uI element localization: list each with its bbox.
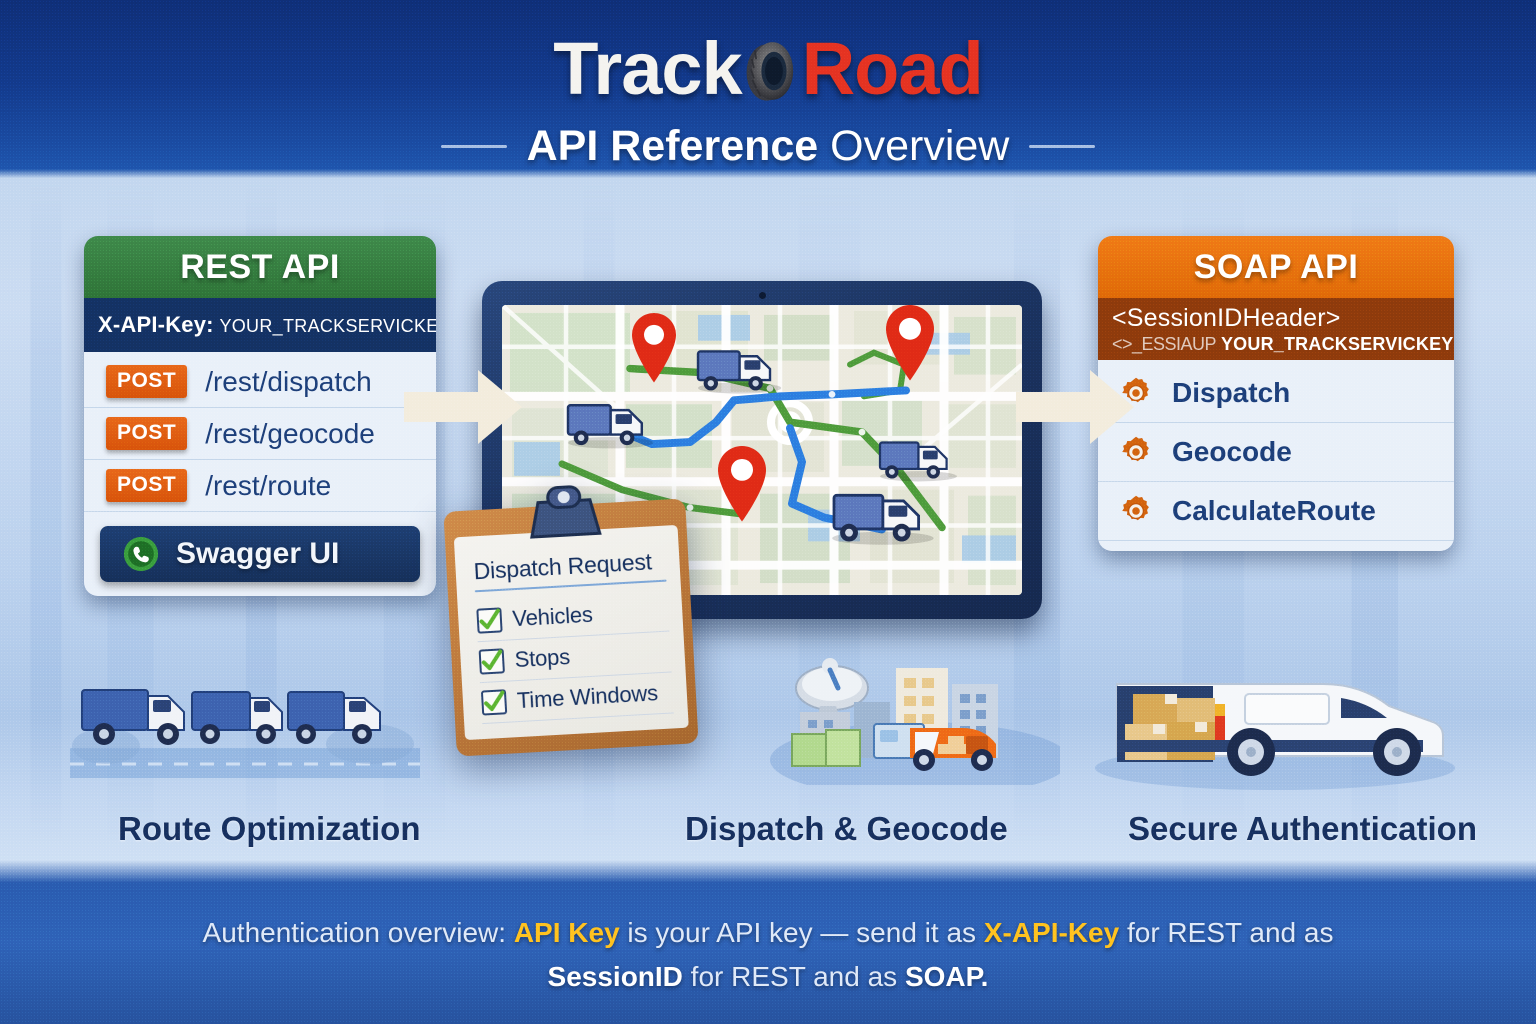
footer-highlight-soap: SOAP. [905, 961, 989, 992]
rest-api-title: REST API [84, 236, 436, 298]
caption-dispatch-geocode: Dispatch & Geocode [685, 810, 1008, 848]
clipboard-title: Dispatch Request [473, 548, 666, 586]
footer-text-b: is your API key — send it as [620, 917, 984, 948]
clipboard-paper: Dispatch Request Vehicles Stops [454, 525, 689, 740]
footer-line-2: SessionID for REST and as SOAP. [0, 955, 1536, 998]
endpoint-row[interactable]: POST /rest/route [84, 460, 436, 512]
arrow-right-icon [404, 366, 522, 448]
tire-icon [734, 34, 808, 108]
soap-api-card[interactable]: SOAP API <SessionIDHeader> <>_ESSIAUP YO… [1098, 236, 1454, 551]
infographic-canvas: Track Road [0, 0, 1536, 1024]
subtitle-light: Overview [830, 122, 1009, 170]
endpoint-row[interactable]: POST /rest/dispatch [84, 356, 436, 408]
soap-session-header: <SessionIDHeader> [1112, 304, 1440, 333]
soap-header-prefix: <>_ESSIAUP [1112, 334, 1216, 354]
footer-highlight-sessionid: SessionID [548, 961, 683, 992]
swagger-ui-label: Swagger UI [176, 537, 339, 571]
soap-operation-row[interactable]: CalculateRoute [1098, 482, 1454, 541]
soap-operation-label: Dispatch [1172, 377, 1290, 409]
tablet-camera [759, 292, 766, 299]
checklist-label: Time Windows [516, 680, 658, 714]
checkbox-checked-icon [478, 648, 505, 675]
method-badge: POST [106, 417, 187, 450]
secure-authentication-van [1095, 636, 1455, 791]
footer-text-a: Authentication overview: [203, 917, 514, 948]
checkbox-checked-icon [480, 689, 507, 716]
rest-auth-bar: X-API-Key: YOUR_TRACKSERVICKEY [84, 298, 436, 352]
method-badge: POST [106, 365, 187, 398]
soap-operation-row[interactable]: Geocode [1098, 423, 1454, 482]
rest-auth-value: YOUR_TRACKSERVICKEY [219, 316, 436, 336]
footer-text-d: for REST and as [683, 961, 905, 992]
rule-left [441, 145, 507, 148]
soap-operation-row[interactable]: Dispatch [1098, 364, 1454, 423]
soap-operation-list: Dispatch Geocode CalculateRoute [1098, 360, 1454, 551]
caption-secure-authentication: Secure Authentication [1128, 810, 1477, 848]
route-optimization-trucks [70, 648, 420, 778]
soap-auth-bar: <SessionIDHeader> <>_ESSIAUP YOUR_TRACKS… [1098, 298, 1454, 360]
subtitle-bold: API Reference [527, 122, 819, 170]
truck [192, 692, 282, 744]
footer-note: Authentication overview: API Key is your… [0, 911, 1536, 998]
brand-logo: Track Road [0, 26, 1536, 111]
page-subtitle: API Reference Overview [0, 122, 1536, 171]
endpoint-row[interactable]: POST /rest/geocode [84, 408, 436, 460]
header: Track Road [0, 0, 1536, 180]
checklist-label: Stops [514, 644, 571, 673]
rest-api-card[interactable]: REST API X-API-Key: YOUR_TRACKSERVICKEY … [84, 236, 436, 596]
soap-api-title: SOAP API [1098, 236, 1454, 298]
logo-road-text: Road [802, 26, 983, 111]
rest-auth-label: X-API-Key: [98, 312, 214, 337]
rule-right [1029, 145, 1095, 148]
logo-track-text: Track [553, 26, 741, 111]
soap-operation-label: Geocode [1172, 436, 1292, 468]
swagger-ui-button[interactable]: Swagger UI [100, 526, 420, 582]
clipboard-clip-icon [511, 482, 618, 540]
dispatch-geocode-city [770, 640, 1060, 785]
endpoint-path: /rest/dispatch [205, 366, 372, 398]
crates [792, 730, 860, 766]
footer-highlight-api-key: API Key [514, 917, 620, 948]
swagger-phone-icon [122, 535, 160, 573]
gear-icon [1118, 493, 1154, 529]
rest-endpoint-list: POST /rest/dispatch POST /rest/geocode P… [84, 352, 436, 596]
caption-route-optimization: Route Optimization [118, 810, 420, 848]
endpoint-path: /rest/geocode [205, 418, 375, 450]
soap-operation-label: CalculateRoute [1172, 495, 1376, 527]
endpoint-path: /rest/route [205, 470, 331, 502]
dispatch-request-clipboard[interactable]: Dispatch Request Vehicles Stops [443, 498, 698, 756]
soap-header-value: YOUR_TRACKSERVICKEY >> [1221, 334, 1454, 354]
arrow-right-icon [1016, 366, 1134, 448]
footer-text-c: for REST and as [1119, 917, 1333, 948]
footer-line-1: Authentication overview: API Key is your… [0, 911, 1536, 954]
method-badge: POST [106, 469, 187, 502]
checklist-label: Vehicles [512, 602, 594, 632]
checkbox-checked-icon [476, 607, 503, 634]
footer-highlight-x-api-key: X-API-Key [984, 917, 1119, 948]
